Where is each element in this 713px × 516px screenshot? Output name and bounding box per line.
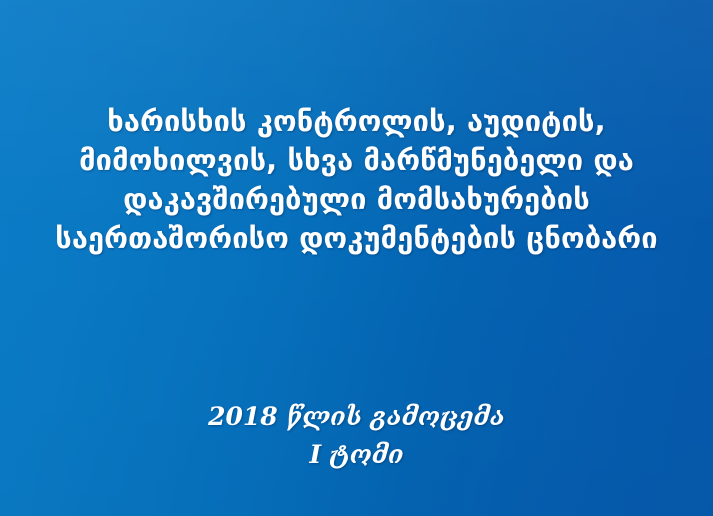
title-line-3: დაკავშირებული მომსახურების bbox=[0, 180, 713, 219]
edition-info: 2018 წლის გამოცემა I ტომი bbox=[0, 398, 713, 474]
title-line-2: მიმოხილვის, სხვა მარწმუნებელი და bbox=[0, 141, 713, 180]
title-line-4: საერთაშორისო დოკუმენტების ცნობარი bbox=[0, 219, 713, 258]
title-line-1: ხარისხის კონტროლის, აუდიტის, bbox=[0, 102, 713, 141]
edition-volume-line: I ტომი bbox=[0, 436, 713, 474]
edition-year-line: 2018 წლის გამოცემა bbox=[0, 398, 713, 436]
page-title: ხარისხის კონტროლის, აუდიტის, მიმოხილვის,… bbox=[0, 102, 713, 258]
cover-slide: ხარისხის კონტროლის, აუდიტის, მიმოხილვის,… bbox=[0, 0, 713, 516]
